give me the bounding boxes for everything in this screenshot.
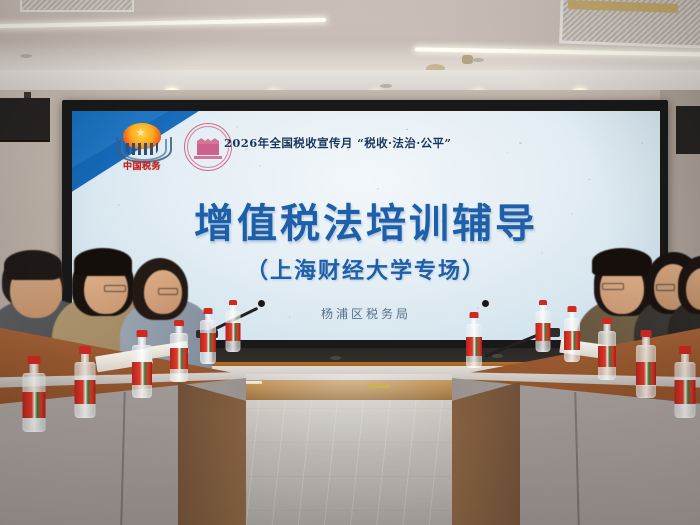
ceiling-fitting [380, 84, 392, 88]
water-bottle [20, 356, 48, 432]
led-strip-light [0, 18, 326, 28]
water-bottle [534, 300, 552, 352]
document-paper [244, 381, 262, 384]
water-bottle [634, 330, 658, 398]
air-vent-icon [20, 0, 134, 12]
seal-base-bar [194, 156, 222, 159]
recessed-downlight [472, 58, 484, 62]
right-table-inner-side [452, 382, 520, 525]
recessed-downlight [20, 54, 32, 58]
water-bottle [596, 318, 618, 380]
water-bottle [72, 346, 98, 418]
water-bottle [168, 320, 190, 382]
water-bottle [672, 346, 698, 418]
wall-mounted-panel [676, 106, 700, 154]
tax-emblem-label: 中国税务 [118, 159, 166, 172]
presentation-subtitle: 2026年全国税收宣传月 “税收·法治·公平” [224, 135, 644, 151]
ceiling [0, 0, 700, 96]
water-bottle [562, 306, 582, 362]
book-icon [197, 137, 219, 155]
water-bottle [224, 300, 242, 352]
led-strip-light [415, 47, 700, 56]
water-bottle [130, 330, 154, 398]
desk-object [368, 384, 390, 388]
ledge-fitting [492, 354, 503, 358]
china-tax-emblem: 中国税务 [114, 121, 170, 173]
left-table-inner-side [178, 382, 246, 525]
water-bottle [198, 308, 218, 364]
ledge-fitting [330, 356, 341, 360]
wall-mounted-speaker [0, 98, 50, 142]
gear-icon [126, 143, 158, 155]
water-bottle [464, 312, 484, 368]
presentation-title: 增值税法培训辅导 [72, 191, 660, 249]
conference-room-screenshot: 中国税务 2026年全国税收宣传月 “税收·法治·公平” 增值税法培训辅导 （上… [0, 0, 700, 525]
